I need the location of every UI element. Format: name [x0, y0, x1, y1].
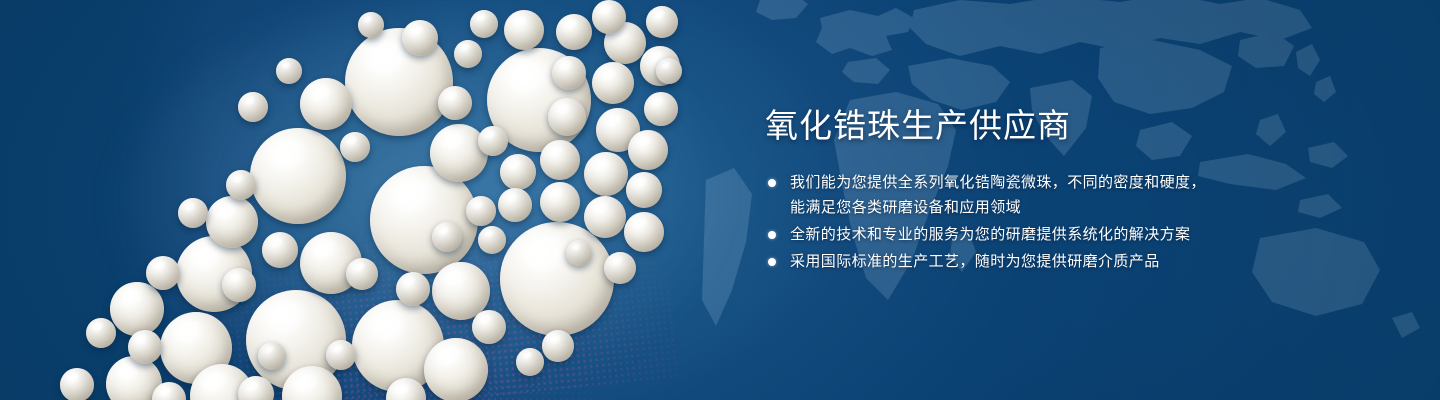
bead [628, 130, 668, 170]
bullet-dot-icon [768, 231, 776, 239]
banner-copy: 氧化锆珠生产供应商 我们能为您提供全系列氧化锆陶瓷微珠，不同的密度和硬度， 能满… [762, 104, 1242, 276]
bead [262, 232, 298, 268]
bead [604, 252, 636, 284]
bead [592, 0, 626, 34]
bead [584, 152, 628, 196]
bead [626, 172, 662, 208]
bead [500, 222, 614, 336]
bead [438, 86, 472, 120]
bead [258, 342, 286, 370]
bead [548, 98, 586, 136]
bead [128, 330, 162, 364]
hero-banner: 氧化锆珠生产供应商 我们能为您提供全系列氧化锆陶瓷微珠，不同的密度和硬度， 能满… [0, 0, 1440, 400]
bullet-dot-icon [768, 258, 776, 266]
list-item-line2: 能满足您各类研磨设备和应用领域 [790, 195, 1242, 220]
zirconia-beads-image [0, 0, 760, 400]
bead [402, 20, 438, 56]
bead [656, 58, 682, 84]
bead [110, 282, 164, 336]
list-item: 全新的技术和专业的服务为您的研磨提供系统化的解决方案 [762, 222, 1242, 247]
bullet-dot-icon [768, 179, 776, 187]
bead [222, 268, 256, 302]
list-item-line1: 我们能为您提供全系列氧化锆陶瓷微珠，不同的密度和硬度， [790, 174, 1206, 191]
bead [644, 92, 678, 126]
bead [478, 126, 508, 156]
bead [584, 196, 626, 238]
bead [556, 14, 592, 50]
bead [500, 154, 536, 190]
bead [566, 240, 592, 266]
bead [478, 226, 506, 254]
page-title: 氧化锆珠生产供应商 [765, 104, 1242, 148]
bead [454, 40, 482, 68]
bead [340, 132, 370, 162]
bead [358, 12, 384, 38]
bead [470, 10, 498, 38]
bead [250, 128, 346, 224]
bead [326, 340, 356, 370]
bead [424, 338, 488, 400]
bead [396, 272, 430, 306]
bead [542, 330, 574, 362]
bead [206, 196, 258, 248]
list-item-line1: 采用国际标准的生产工艺，随时为您提供研磨介质产品 [790, 253, 1160, 270]
bead [146, 256, 180, 290]
list-item: 我们能为您提供全系列氧化锆陶瓷微珠，不同的密度和硬度， 能满足您各类研磨设备和应… [762, 170, 1242, 220]
bead [592, 62, 634, 104]
bead [498, 188, 532, 222]
bead [346, 258, 378, 290]
bead [300, 78, 352, 130]
feature-list: 我们能为您提供全系列氧化锆陶瓷微珠，不同的密度和硬度， 能满足您各类研磨设备和应… [762, 170, 1242, 274]
bead [432, 222, 462, 252]
list-item-line1: 全新的技术和专业的服务为您的研磨提供系统化的解决方案 [790, 226, 1190, 243]
bead [540, 140, 580, 180]
bead [472, 310, 506, 344]
bead [540, 182, 580, 222]
bead [60, 368, 94, 400]
bead [226, 170, 256, 200]
bead [646, 6, 678, 38]
bead [624, 212, 664, 252]
bead [466, 196, 496, 226]
bead [516, 348, 544, 376]
bead [552, 56, 586, 90]
bead [238, 92, 268, 122]
bead [86, 318, 116, 348]
list-item: 采用国际标准的生产工艺，随时为您提供研磨介质产品 [762, 249, 1242, 274]
bead [276, 58, 302, 84]
bead [504, 10, 544, 50]
bead [370, 166, 478, 274]
bead [178, 198, 208, 228]
